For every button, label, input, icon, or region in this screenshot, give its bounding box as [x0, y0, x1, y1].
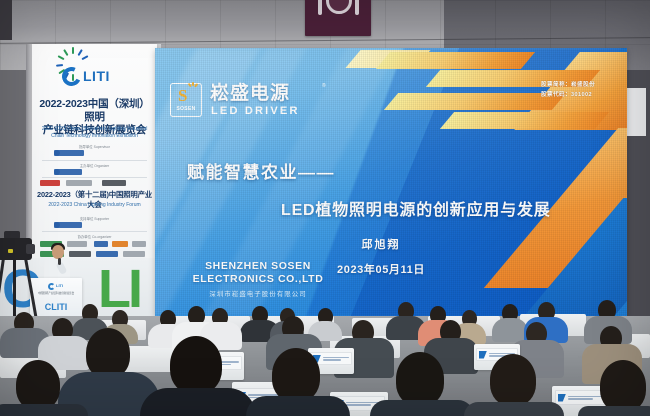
stock-info-box: 股票简称：崧盛股份 股票代码：301002 — [537, 76, 621, 102]
banner-divider-1 — [42, 160, 147, 161]
banner-title-en-line1: 2022-2023 China (Shenzhen) Lighting Indu… — [38, 126, 151, 133]
chair-tag-line — [568, 396, 604, 398]
chair-tag-logo-icon — [479, 351, 487, 359]
conference-photo-scene: LITI 2022-2023中国（深圳）照明 产业链科技创新展览会 2022-2… — [0, 0, 650, 416]
podium-logo-word: LITI — [56, 283, 63, 288]
screen-stripe-1 — [376, 52, 535, 69]
restaurant-sign — [305, 0, 371, 36]
company-name-en-line1: SHENZHEN SOSEN — [163, 260, 353, 273]
slide-title-line-1: 赋能智慧农业—— — [187, 158, 335, 183]
chair-tag-line — [323, 359, 341, 361]
sponsor-chip — [112, 241, 128, 247]
banner-sponsor-row-1 — [54, 149, 134, 156]
ceiling-dark-edge — [0, 0, 12, 40]
registered-trademark-icon: ® — [322, 83, 326, 89]
sosen-logo-caption: SOSEN — [172, 106, 200, 112]
banner-forum-title-en: 2022-2023 China Lighting Industry Forum — [36, 202, 153, 209]
sponsor-chip — [54, 169, 82, 175]
company-name-en: SHENZHEN SOSEN ELECTRONICS CO.,LTD — [163, 260, 353, 286]
plate-icon — [326, 0, 352, 14]
banner-title-cn-line1: 2022-2023中国（深圳）照明 — [38, 98, 151, 124]
restaurant-icon — [305, 0, 371, 34]
banner-sponsor-row-2 — [54, 168, 134, 175]
company-name-en-line2: ELECTRONICS CO.,LTD — [163, 273, 353, 286]
cliti-logo-word: LITI — [83, 69, 110, 84]
sponsor-chip — [40, 180, 60, 186]
cliti-logo: LITI — [52, 58, 138, 94]
floor-letter-l: L — [98, 262, 131, 316]
banner-sponsor-row-4 — [54, 221, 134, 228]
podium-subtitle: 中国照明产业链科技创新展览会 — [35, 292, 77, 295]
stock-name-line: 股票简称：崧盛股份 — [541, 80, 621, 88]
sponsor-chip — [96, 251, 118, 257]
sponsor-chip — [94, 241, 108, 247]
sosen-tagline-en: LED DRIVER — [211, 105, 300, 117]
banner-title-en-line2: Chain Technology Innovation Exhibition — [38, 133, 151, 140]
chair-tag-lines — [568, 396, 604, 400]
chair-tag-line — [323, 357, 349, 359]
speaker-head — [52, 245, 64, 259]
floor-letter-i: I — [128, 262, 143, 316]
sosen-brand-name-cn: 崧盛电源 — [210, 84, 290, 104]
banner-divider-3 — [42, 231, 147, 232]
chair-tag-line — [346, 404, 371, 406]
sponsor-chip — [69, 251, 91, 257]
sponsor-chip — [54, 222, 82, 228]
led-presentation-screen: 股票简称：崧盛股份 股票代码：301002 S SOSEN 崧盛电源 ® LED… — [155, 48, 627, 316]
podium-logo: LITI — [46, 282, 66, 291]
tripod-center-column — [13, 258, 16, 318]
sponsor-chip — [54, 150, 84, 156]
sponsor-chip — [67, 241, 87, 247]
stock-code-line: 股票代码：301002 — [541, 90, 621, 98]
banner-divider-2 — [42, 177, 147, 178]
sponsor-chip — [66, 180, 92, 186]
knife-icon — [355, 0, 359, 15]
podium-word: CLITI — [35, 302, 77, 312]
sosen-spark-icon — [189, 85, 197, 93]
banner-sponsor-label-4: 协办单位 Co-organizer — [38, 234, 151, 239]
sponsor-chip — [123, 251, 145, 257]
fork-icon — [318, 0, 322, 15]
chair-tag-logo-icon — [558, 394, 566, 402]
microphone-icon — [58, 258, 61, 265]
company-name-cn: 深圳市崧盛电子股份有限公司 — [163, 288, 353, 298]
podium-c-letter-icon — [48, 283, 55, 290]
chair-tag-lines — [323, 357, 349, 361]
slide-title-line-2: LED植物照明电源的创新应用与发展 — [281, 196, 551, 220]
banner-exhibition-title-en: 2022-2023 China (Shenzhen) Lighting Indu… — [38, 126, 151, 140]
camera-lens-icon — [26, 244, 35, 254]
slide-speaker-name: 邱旭翔 — [155, 236, 627, 252]
speaker-podium: LITI 中国照明产业链科技创新展览会 CLITI — [30, 278, 82, 318]
sponsor-chip — [132, 241, 146, 247]
screen-stripe-4 — [440, 112, 609, 129]
sosen-brand-logo: S SOSEN 崧盛电源 ® LED DRIVER — [170, 83, 370, 119]
sosen-logo-letter: S — [178, 87, 187, 105]
sponsor-chip — [102, 180, 126, 186]
banner-sponsor-row-3 — [40, 180, 149, 187]
camera-indicator — [8, 249, 13, 253]
chair-tag-line — [568, 398, 593, 400]
